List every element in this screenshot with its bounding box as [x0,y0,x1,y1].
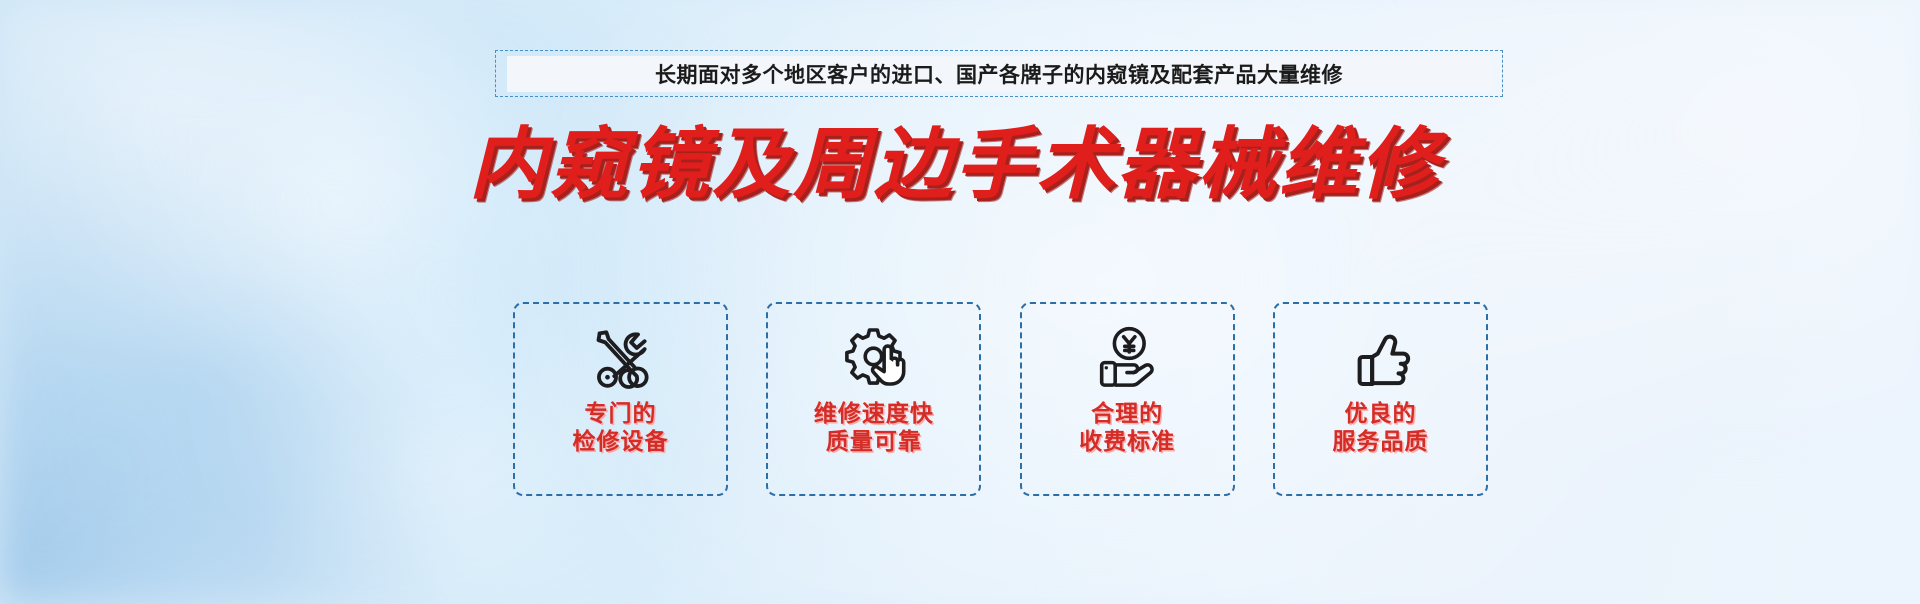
feature-label-line1: 合理的 [1091,401,1163,427]
feature-card-service[interactable]: 优良的 服务品质 [1273,302,1488,496]
subtitle-frame: 长期面对多个地区客户的进口、国产各牌子的内窥镜及配套产品大量维修 [495,50,1503,97]
feature-label-line2: 收费标准 [1079,428,1175,456]
screwdriver-wrench-icon [582,318,660,396]
feature-cards: 专门的 检修设备 维修速度快 [513,302,1488,496]
page-title: 内窥镜及周边手术器械维修 [0,122,1915,208]
gear-click-icon [835,318,913,396]
feature-card-equipment[interactable]: 专门的 检修设备 [513,302,728,496]
feature-card-speed[interactable]: 维修速度快 质量可靠 [766,302,981,496]
feature-label-line1: 维修速度快 [814,401,934,427]
subtitle-plate: 长期面对多个地区客户的进口、国产各牌子的内窥镜及配套产品大量维修 [507,56,1492,92]
feature-label-line2: 服务品质 [1332,428,1428,456]
hand-yen-coin-icon [1088,318,1166,396]
feature-card-pricing[interactable]: 合理的 收费标准 [1020,302,1235,496]
feature-label-line2: 质量可靠 [814,428,934,456]
feature-card-label: 专门的 检修设备 [573,400,669,456]
feature-card-label: 维修速度快 质量可靠 [814,400,934,456]
feature-label-line2: 检修设备 [573,428,669,456]
subtitle-text: 长期面对多个地区客户的进口、国产各牌子的内窥镜及配套产品大量维修 [655,59,1343,89]
feature-card-label: 合理的 收费标准 [1079,400,1175,456]
feature-card-label: 优良的 服务品质 [1332,400,1428,456]
thumbs-up-icon [1341,318,1419,396]
promo-banner: 长期面对多个地区客户的进口、国产各牌子的内窥镜及配套产品大量维修 内窥镜及周边手… [0,0,1920,604]
feature-label-line1: 专门的 [585,401,657,427]
feature-label-line1: 优良的 [1344,401,1416,427]
